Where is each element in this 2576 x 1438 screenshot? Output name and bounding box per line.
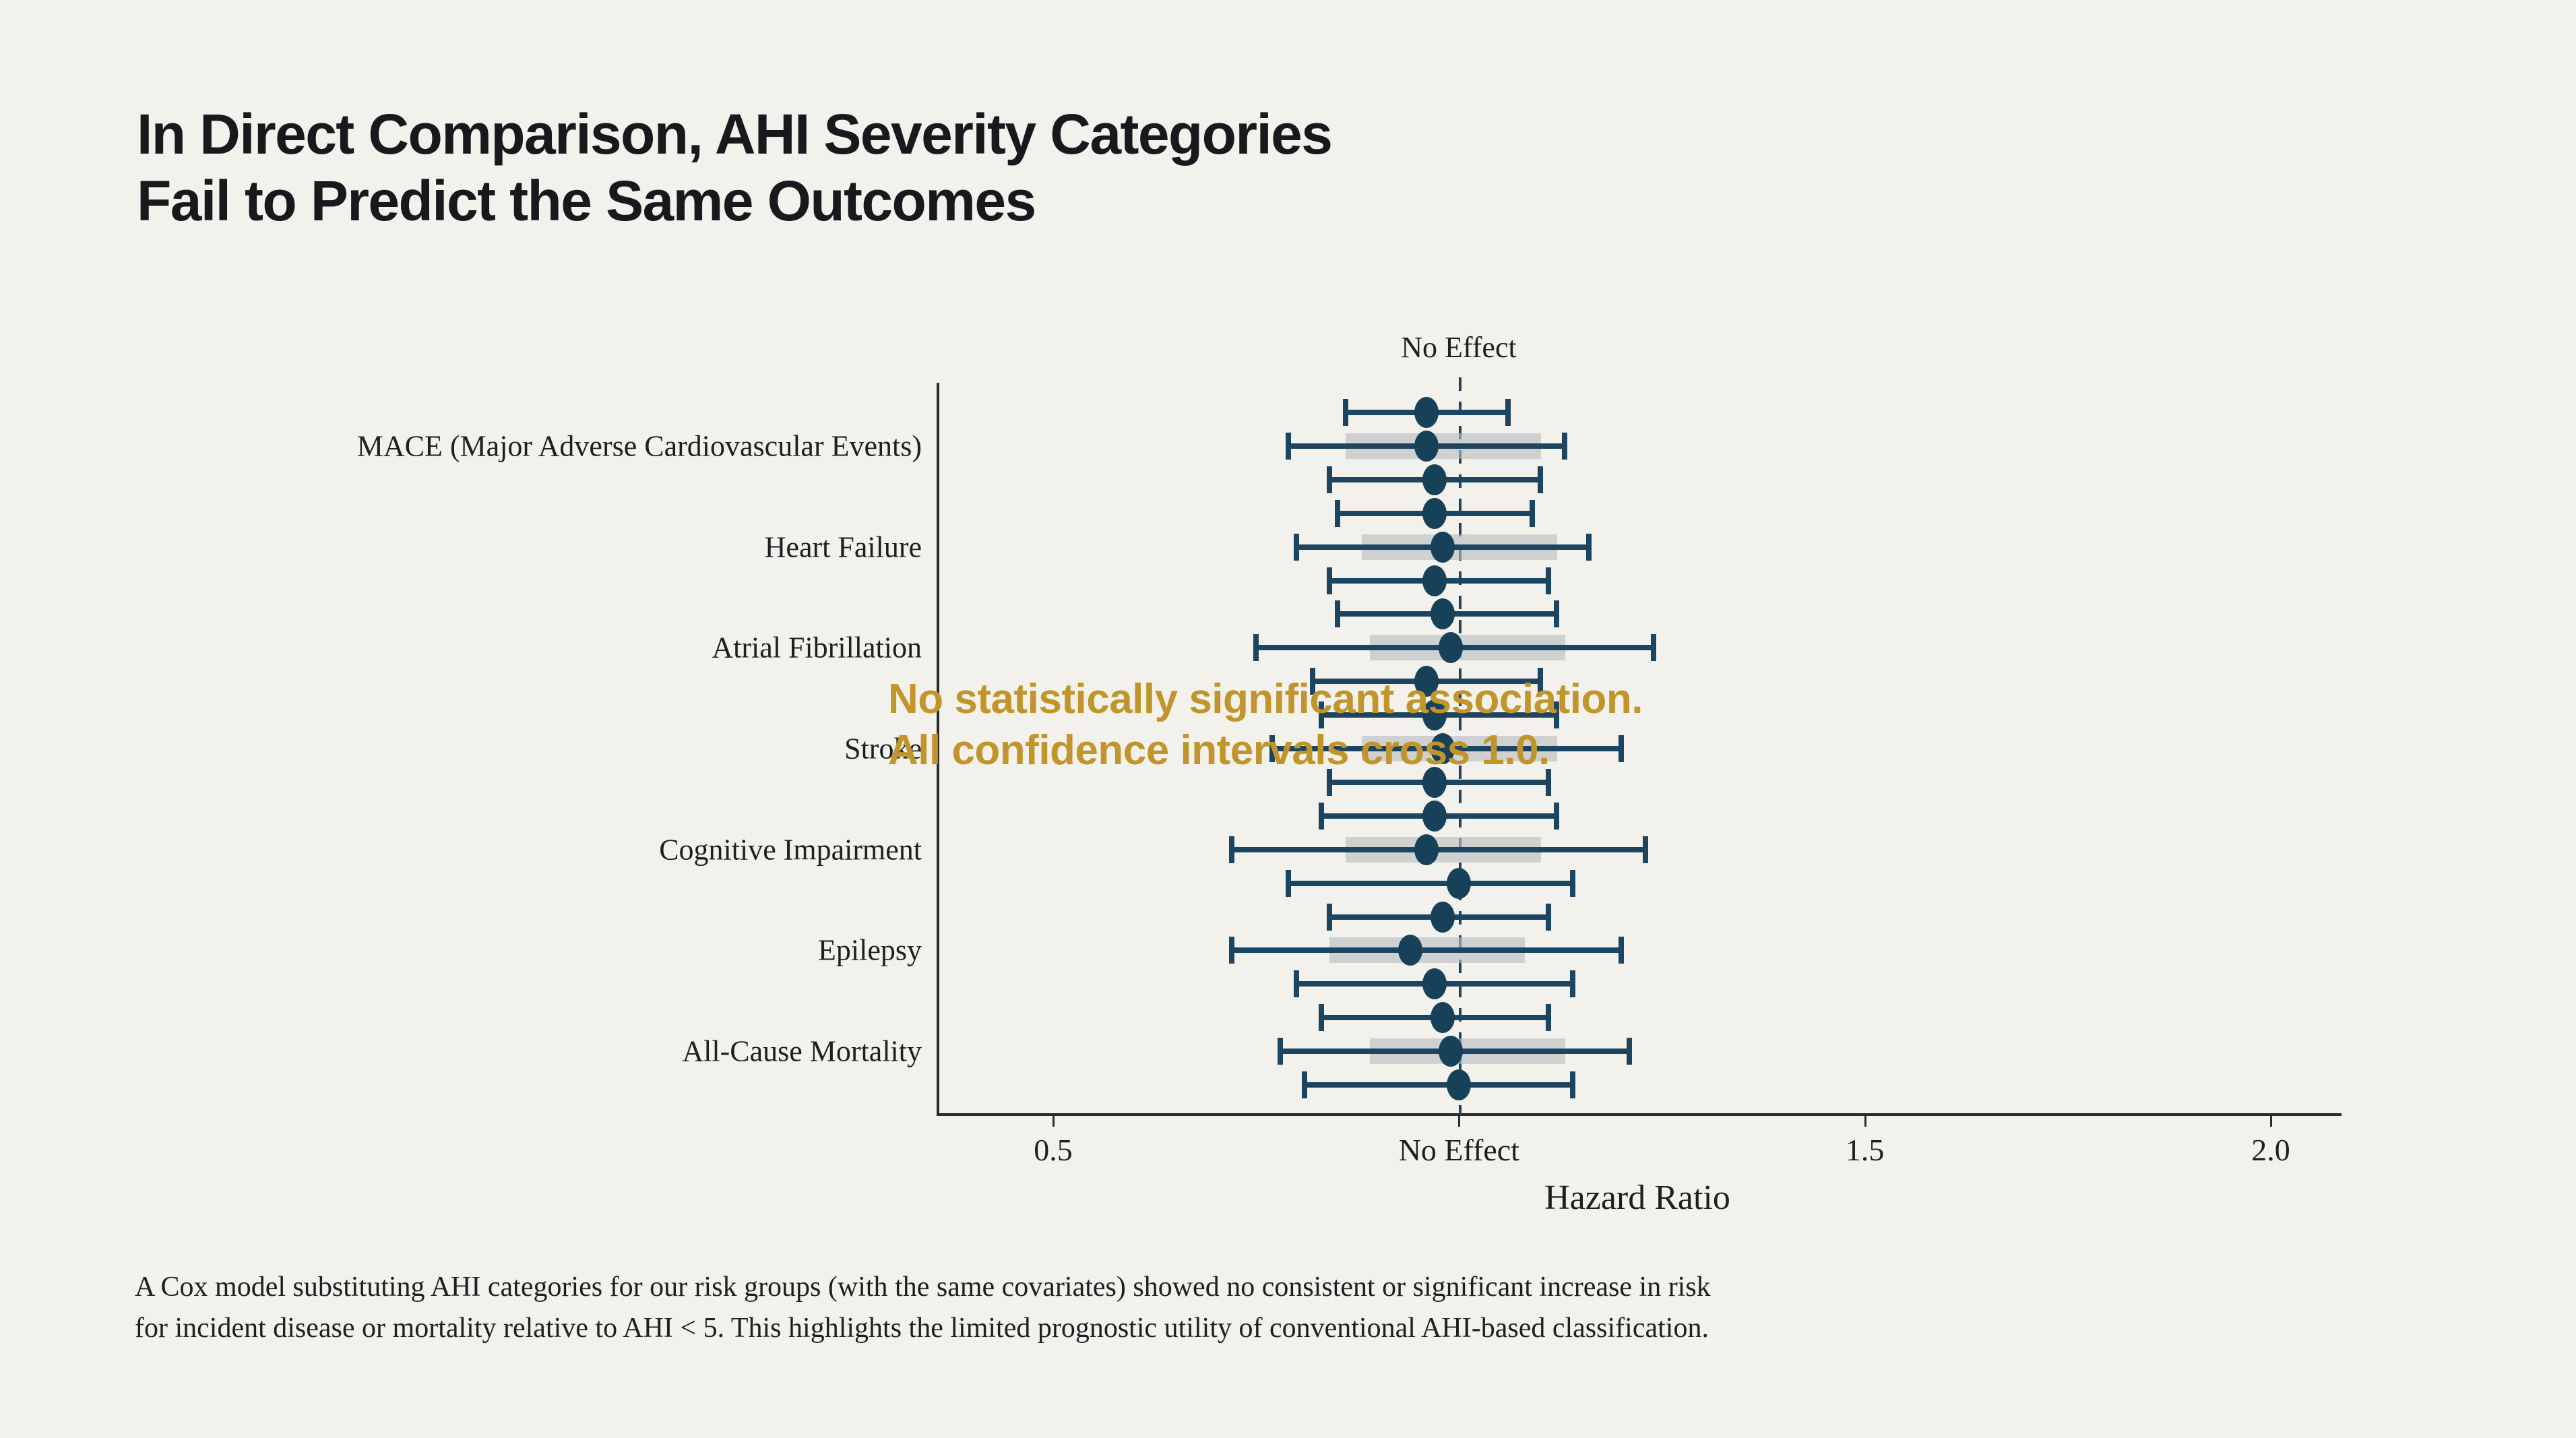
- x-tick-3: [2270, 1116, 2272, 1127]
- x-tick-label-1: No Effect: [1399, 1132, 1519, 1168]
- ci-cap-lower: [1286, 433, 1291, 460]
- ci-cap-upper: [1570, 970, 1575, 997]
- y-label-cognitive-impairment: Cognitive Impairment: [659, 832, 922, 867]
- x-tick-1: [1458, 1116, 1460, 1127]
- point-estimate-marker: [1447, 1069, 1471, 1100]
- point-estimate-marker: [1439, 632, 1463, 663]
- ci-cap-lower: [1319, 803, 1324, 830]
- ci-cap-lower: [1335, 600, 1340, 627]
- ci-cap-upper: [1546, 1004, 1551, 1031]
- point-estimate-marker: [1431, 532, 1455, 563]
- point-estimate-marker: [1422, 968, 1447, 999]
- point-estimate-marker: [1439, 1036, 1463, 1067]
- caption-text: A Cox model substituting AHI categories …: [135, 1267, 2466, 1350]
- ci-cap-upper: [1586, 534, 1592, 561]
- x-axis-line: [937, 1113, 2342, 1116]
- ci-cap-lower: [1327, 904, 1332, 931]
- x-tick-label-0: 0.5: [1034, 1132, 1073, 1168]
- ci-cap-upper: [1554, 803, 1559, 830]
- ci-cap-lower: [1253, 634, 1259, 661]
- y-label-mace-major-adverse-cardiovascular-events: MACE (Major Adverse Cardiovascular Event…: [357, 429, 922, 463]
- point-estimate-marker: [1431, 1002, 1455, 1033]
- ci-cap-upper: [1570, 1071, 1575, 1098]
- point-estimate-marker: [1414, 397, 1439, 428]
- ci-line: [1232, 947, 1621, 953]
- ci-cap-lower: [1294, 534, 1299, 561]
- point-estimate-marker: [1431, 902, 1455, 933]
- ci-cap-upper: [1619, 937, 1624, 964]
- y-label-epilepsy: Epilepsy: [818, 933, 922, 968]
- x-tick-label-2: 1.5: [1846, 1132, 1885, 1168]
- ci-line: [1288, 881, 1573, 886]
- ci-cap-upper: [1505, 399, 1511, 426]
- point-estimate-marker: [1447, 868, 1471, 899]
- point-estimate-marker: [1431, 598, 1455, 629]
- y-label-heart-failure: Heart Failure: [765, 530, 922, 564]
- point-estimate-marker: [1422, 565, 1447, 596]
- y-axis-labels: MACE (Major Adverse Cardiovascular Event…: [0, 0, 922, 732]
- ci-cap-upper: [1570, 870, 1575, 897]
- ci-cap-lower: [1319, 1004, 1324, 1031]
- ci-cap-lower: [1286, 870, 1291, 897]
- ci-cap-upper: [1643, 836, 1648, 863]
- y-label-all-cause-mortality: All-Cause Mortality: [682, 1034, 922, 1069]
- ci-cap-lower: [1302, 1071, 1307, 1098]
- ci-line: [1305, 1082, 1573, 1088]
- ci-cap-upper: [1562, 433, 1567, 460]
- callout-text: No statistically significant association…: [888, 674, 2236, 777]
- ci-cap-lower: [1327, 567, 1332, 594]
- ci-cap-lower: [1229, 937, 1234, 964]
- no-effect-top-label: No Effect: [1401, 330, 1516, 365]
- ci-cap-upper: [1538, 466, 1543, 493]
- ci-cap-lower: [1343, 399, 1348, 426]
- y-label-atrial-fibrillation: Atrial Fibrillation: [712, 631, 922, 665]
- ci-cap-lower: [1294, 970, 1299, 997]
- point-estimate-marker: [1414, 834, 1439, 865]
- point-estimate-marker: [1422, 498, 1447, 529]
- ci-cap-upper: [1546, 904, 1551, 931]
- point-estimate-marker: [1422, 801, 1447, 832]
- ci-cap-upper: [1546, 567, 1551, 594]
- x-tick-2: [1864, 1116, 1866, 1127]
- x-tick-0: [1053, 1116, 1055, 1127]
- ci-cap-lower: [1229, 836, 1234, 863]
- point-estimate-marker: [1422, 464, 1447, 495]
- ci-cap-upper: [1627, 1038, 1632, 1065]
- x-tick-label-3: 2.0: [2251, 1132, 2290, 1168]
- slide-root: In Direct Comparison, AHI Severity Categ…: [0, 0, 2576, 1438]
- ci-cap-upper: [1530, 500, 1535, 527]
- ci-cap-lower: [1278, 1038, 1283, 1065]
- point-estimate-marker: [1414, 431, 1439, 462]
- ci-cap-upper: [1651, 634, 1656, 661]
- ci-line: [1232, 847, 1645, 852]
- ci-cap-upper: [1554, 600, 1559, 627]
- ci-cap-lower: [1335, 500, 1340, 527]
- x-axis-title: Hazard Ratio: [1544, 1178, 1730, 1218]
- point-estimate-marker: [1398, 935, 1422, 966]
- ci-cap-lower: [1327, 466, 1332, 493]
